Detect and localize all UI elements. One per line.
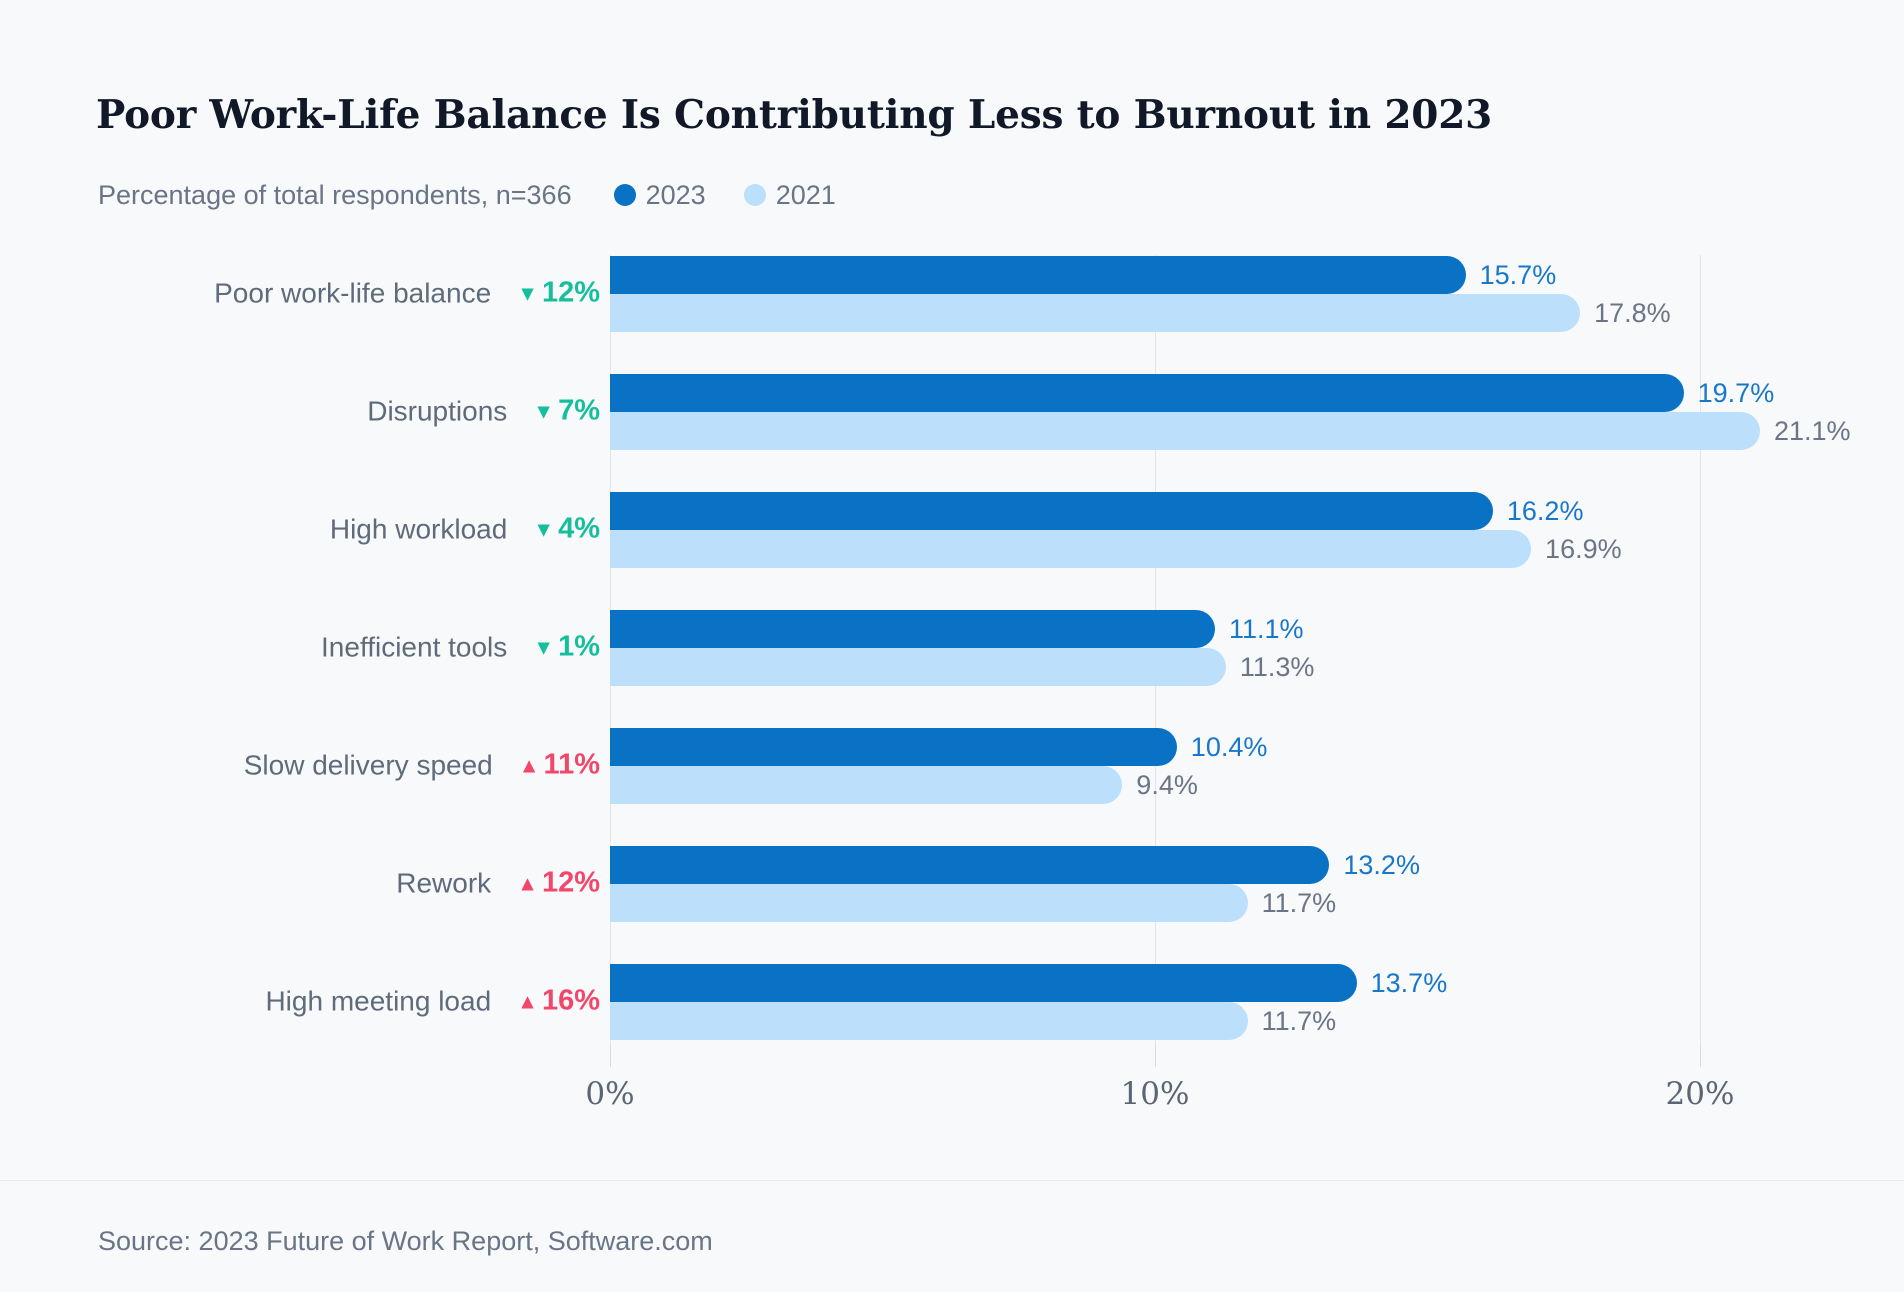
bar-group-2023: 13.7% xyxy=(610,964,1447,1002)
bar-value-label-2023: 13.7% xyxy=(1371,968,1448,999)
bar-2023[interactable] xyxy=(610,964,1357,1002)
bar-group-2021: 9.4% xyxy=(610,766,1198,804)
bar-row[interactable]: Disruptions▼7%19.7%21.1% xyxy=(0,366,1904,456)
bar-group-2021: 11.7% xyxy=(610,884,1336,922)
delta-badge: ▲11% xyxy=(519,749,600,782)
bar-group-2021: 16.9% xyxy=(610,530,1622,568)
triangle-down-icon: ▼ xyxy=(517,284,538,305)
row-label-group: Rework▲12% xyxy=(396,867,600,900)
bar-2023[interactable] xyxy=(610,846,1329,884)
bar-value-label-2023: 10.4% xyxy=(1191,732,1268,763)
delta-badge: ▲16% xyxy=(517,985,600,1018)
bar-group-2021: 21.1% xyxy=(610,412,1851,450)
delta-value: 7% xyxy=(558,395,600,428)
bar-value-label-2023: 11.1% xyxy=(1229,614,1304,645)
bar-row[interactable]: Poor work-life balance▼12%15.7%17.8% xyxy=(0,248,1904,338)
bar-value-label-2021: 9.4% xyxy=(1136,770,1198,801)
row-label-group: High meeting load▲16% xyxy=(265,985,600,1018)
bar-group-2021: 17.8% xyxy=(610,294,1671,332)
bar-2023[interactable] xyxy=(610,374,1684,412)
bar-group-2023: 11.1% xyxy=(610,610,1304,648)
delta-badge: ▼12% xyxy=(517,277,600,310)
bar-2023[interactable] xyxy=(610,610,1215,648)
bar-value-label-2021: 11.7% xyxy=(1262,888,1337,919)
bar-value-label-2021: 16.9% xyxy=(1545,534,1622,565)
triangle-down-icon: ▼ xyxy=(533,402,554,423)
delta-value: 1% xyxy=(558,631,600,664)
bar-group-2023: 10.4% xyxy=(610,728,1267,766)
delta-badge: ▼1% xyxy=(533,631,600,664)
bar-2023[interactable] xyxy=(610,256,1466,294)
footer-divider xyxy=(0,1180,1904,1181)
bar-value-label-2021: 21.1% xyxy=(1774,416,1851,447)
bar-group-2023: 16.2% xyxy=(610,492,1583,530)
bar-group-2023: 15.7% xyxy=(610,256,1556,294)
triangle-up-icon: ▲ xyxy=(519,756,540,777)
category-label: Slow delivery speed xyxy=(244,749,493,781)
category-label: High workload xyxy=(330,513,507,545)
delta-badge: ▲12% xyxy=(517,867,600,900)
axis-tick-label: 0% xyxy=(585,1076,634,1112)
axis-tick-mark xyxy=(610,1045,611,1067)
chart-plot-area: 0%10%20% Poor work-life balance▼12%15.7%… xyxy=(0,0,1904,1292)
triangle-down-icon: ▼ xyxy=(533,520,554,541)
bar-value-label-2021: 11.3% xyxy=(1240,652,1315,683)
bar-value-label-2023: 19.7% xyxy=(1698,378,1775,409)
delta-value: 16% xyxy=(542,985,600,1018)
bar-group-2021: 11.7% xyxy=(610,1002,1336,1040)
delta-value: 12% xyxy=(542,867,600,900)
triangle-up-icon: ▲ xyxy=(517,992,538,1013)
row-label-group: Inefficient tools▼1% xyxy=(321,631,600,664)
category-label: Inefficient tools xyxy=(321,631,507,663)
category-label: Rework xyxy=(396,867,491,899)
delta-value: 11% xyxy=(544,749,600,782)
category-label: Disruptions xyxy=(367,395,507,427)
bar-2021[interactable] xyxy=(610,1002,1248,1040)
bar-2023[interactable] xyxy=(610,728,1177,766)
triangle-up-icon: ▲ xyxy=(517,874,538,895)
chart-page: Poor Work-Life Balance Is Contributing L… xyxy=(0,0,1904,1292)
bar-value-label-2023: 13.2% xyxy=(1343,850,1420,881)
axis-tick-label: 20% xyxy=(1666,1076,1735,1112)
category-label: High meeting load xyxy=(265,985,491,1017)
bar-row[interactable]: Slow delivery speed▲11%10.4%9.4% xyxy=(0,720,1904,810)
delta-value: 4% xyxy=(558,513,600,546)
row-label-group: Poor work-life balance▼12% xyxy=(214,277,600,310)
delta-badge: ▼7% xyxy=(533,395,600,428)
bar-row[interactable]: High workload▼4%16.2%16.9% xyxy=(0,484,1904,574)
category-label: Poor work-life balance xyxy=(214,277,491,309)
triangle-down-icon: ▼ xyxy=(533,638,554,659)
bar-value-label-2021: 11.7% xyxy=(1262,1006,1337,1037)
axis-tick-label: 10% xyxy=(1121,1076,1190,1112)
row-label-group: Disruptions▼7% xyxy=(367,395,600,428)
bar-row[interactable]: Inefficient tools▼1%11.1%11.3% xyxy=(0,602,1904,692)
row-label-group: High workload▼4% xyxy=(330,513,600,546)
bar-row[interactable]: Rework▲12%13.2%11.7% xyxy=(0,838,1904,928)
bar-value-label-2023: 15.7% xyxy=(1480,260,1557,291)
row-label-group: Slow delivery speed▲11% xyxy=(244,749,600,782)
delta-value: 12% xyxy=(542,277,600,310)
bar-2021[interactable] xyxy=(610,412,1760,450)
bar-value-label-2021: 17.8% xyxy=(1594,298,1671,329)
bar-group-2023: 13.2% xyxy=(610,846,1420,884)
axis-tick-mark xyxy=(1155,1045,1156,1067)
bar-row[interactable]: High meeting load▲16%13.7%11.7% xyxy=(0,956,1904,1046)
delta-badge: ▼4% xyxy=(533,513,600,546)
bar-2021[interactable] xyxy=(610,884,1248,922)
bar-2021[interactable] xyxy=(610,530,1531,568)
bar-group-2021: 11.3% xyxy=(610,648,1314,686)
bar-group-2023: 19.7% xyxy=(610,374,1774,412)
bar-value-label-2023: 16.2% xyxy=(1507,496,1584,527)
bar-2021[interactable] xyxy=(610,766,1122,804)
axis-tick-mark xyxy=(1700,1045,1701,1067)
bar-2023[interactable] xyxy=(610,492,1493,530)
bar-2021[interactable] xyxy=(610,648,1226,686)
bar-2021[interactable] xyxy=(610,294,1580,332)
source-note: Source: 2023 Future of Work Report, Soft… xyxy=(98,1226,713,1257)
